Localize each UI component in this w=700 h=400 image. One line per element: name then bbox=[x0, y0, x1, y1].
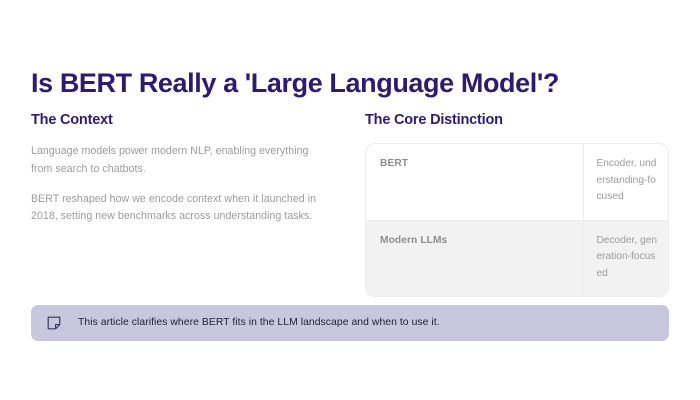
context-paragraph-2: BERT reshaped how we encode context when… bbox=[31, 191, 331, 225]
context-paragraph-1: Language models power modern NLP, enabli… bbox=[31, 143, 331, 177]
table-cell-value: Encoder, understanding-focused bbox=[583, 144, 668, 220]
sticky-note-icon bbox=[47, 316, 61, 330]
context-section: The Context Language models power modern… bbox=[31, 112, 331, 225]
article-page: Is BERT Really a 'Large Language Model'?… bbox=[0, 0, 700, 400]
table-cell-label: Modern LLMs bbox=[366, 221, 583, 297]
context-heading: The Context bbox=[31, 112, 331, 129]
table-cell-value: Decoder, generation-focused bbox=[583, 221, 668, 297]
table-row: Modern LLMs Decoder, generation-focused bbox=[366, 220, 668, 297]
core-distinction-section: The Core Distinction BERT Encoder, under… bbox=[365, 112, 669, 297]
core-distinction-heading: The Core Distinction bbox=[365, 112, 669, 129]
table-row: BERT Encoder, understanding-focused bbox=[366, 144, 668, 220]
summary-callout-text: This article clarifies where BERT fits i… bbox=[78, 316, 440, 330]
page-title: Is BERT Really a 'Large Language Model'? bbox=[31, 68, 559, 99]
comparison-table: BERT Encoder, understanding-focused Mode… bbox=[365, 143, 669, 297]
summary-callout: This article clarifies where BERT fits i… bbox=[31, 305, 669, 341]
table-cell-label: BERT bbox=[366, 144, 583, 220]
